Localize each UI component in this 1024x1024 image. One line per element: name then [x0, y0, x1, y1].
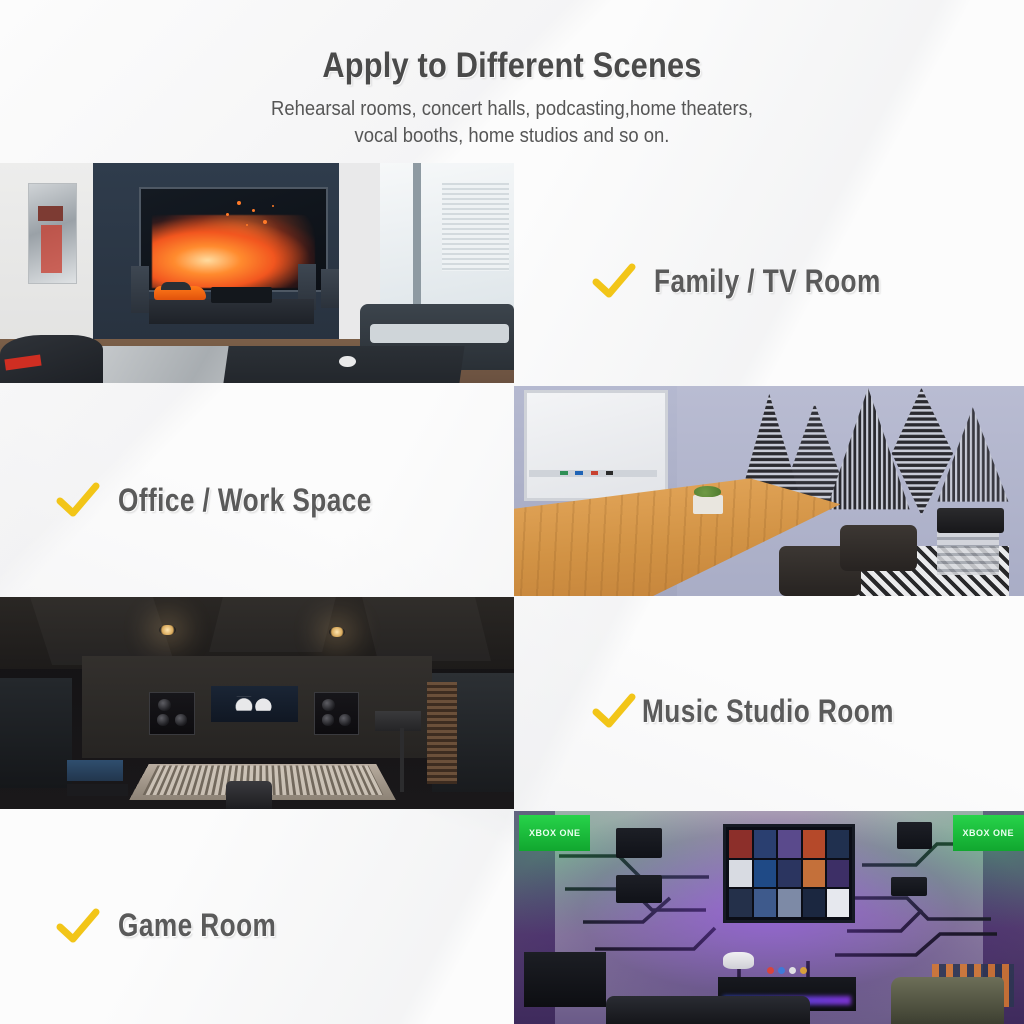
check-icon	[592, 691, 636, 731]
scene-label-text: Family / TV Room	[654, 263, 881, 300]
subtitle-line-2: vocal booths, home studios and so on.	[355, 124, 670, 147]
check-icon	[56, 906, 100, 946]
infographic-page: Apply to Different Scenes Rehearsal room…	[0, 0, 1024, 1024]
xbox-sign-right: XBOX ONE	[953, 815, 1024, 851]
scene-photo-game-room: XBOX ONE XBOX ONE	[514, 811, 1024, 1024]
scene-label-text: Music Studio Room	[642, 693, 894, 730]
scene-label-music-studio-room: Music Studio Room	[514, 597, 1024, 809]
scene-row-office-work-space: Office / Work Space	[0, 386, 1024, 596]
header: Apply to Different Scenes Rehearsal room…	[0, 0, 1024, 163]
scene-label-family-tv-room: Family / TV Room	[514, 163, 1024, 383]
check-icon	[592, 261, 636, 301]
page-title: Apply to Different Scenes	[61, 0, 962, 86]
page-subtitle: Rehearsal rooms, concert halls, podcasti…	[51, 86, 973, 150]
scene-label-game-room: Game Room	[0, 811, 514, 1024]
subtitle-line-1: Rehearsal rooms, concert halls, podcasti…	[271, 97, 753, 120]
scene-photo-music-studio-room	[0, 597, 514, 809]
scene-label-text: Office / Work Space	[118, 482, 372, 519]
scene-row-game-room: Game Room	[0, 811, 1024, 1024]
scene-photo-office-work-space	[514, 386, 1024, 596]
scene-label-office-work-space: Office / Work Space	[0, 386, 514, 596]
scene-row-music-studio-room: Music Studio Room	[0, 597, 1024, 809]
scene-photo-family-tv-room	[0, 163, 514, 383]
scene-row-family-tv-room: Family / TV Room	[0, 163, 1024, 383]
check-icon	[56, 480, 100, 520]
xbox-sign-left: XBOX ONE	[519, 815, 590, 851]
scene-label-text: Game Room	[118, 907, 276, 944]
